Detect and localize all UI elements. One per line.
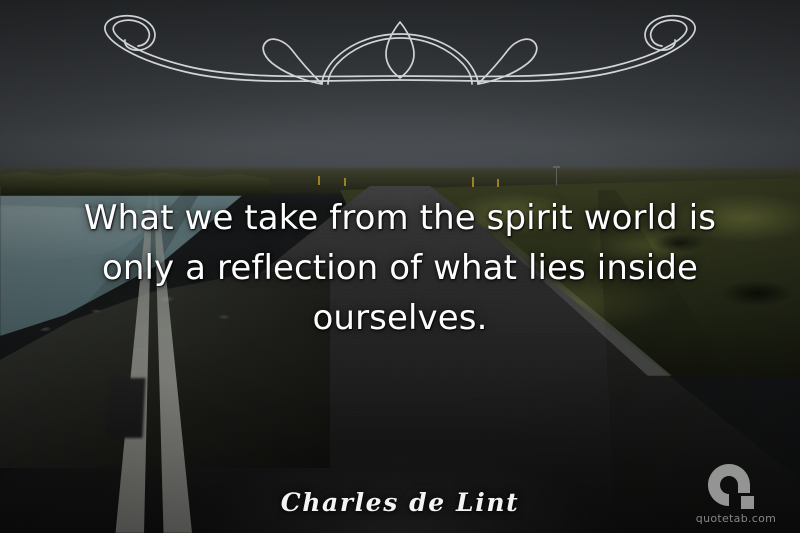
flourish-divider-icon [94, 6, 706, 90]
quote-line-3: ourselves. [66, 293, 734, 343]
author-name: Charles de Lint [281, 488, 520, 518]
brand-watermark[interactable]: quotetab.com [688, 462, 784, 525]
quote-card: What we take from the spirit world is on… [0, 0, 800, 533]
quote-line-1: What we take from the spirit world is [66, 193, 734, 243]
quote-text: What we take from the spirit world is on… [66, 193, 734, 343]
brand-site-label: quotetab.com [688, 512, 784, 525]
quote-line-2: only a reflection of what lies inside [66, 243, 734, 293]
content-layer: What we take from the spirit world is on… [0, 0, 800, 533]
quotetab-q-logo-icon [707, 462, 765, 510]
